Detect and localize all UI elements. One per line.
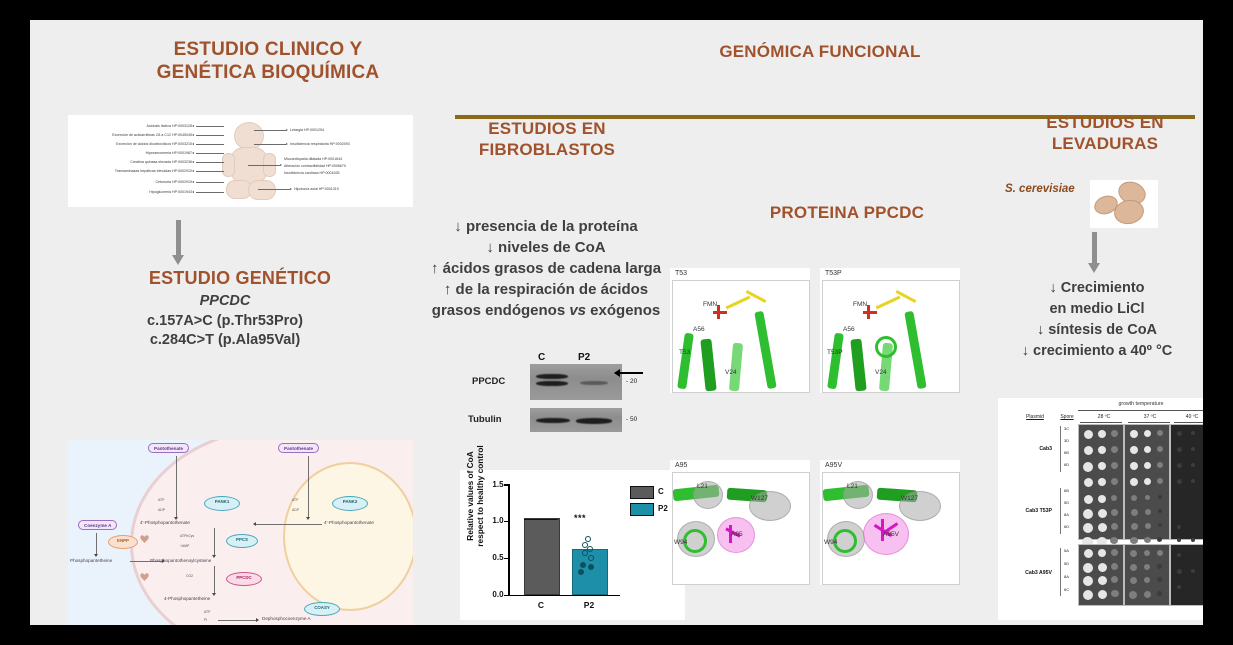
arrowhead-coa-to-pp bbox=[94, 554, 98, 557]
arrowhead-pantothenate-right bbox=[306, 517, 310, 520]
arrowhead-r2 bbox=[286, 143, 288, 145]
plate-row-label-cab3: Cab3 bbox=[1012, 446, 1052, 452]
nucleus-outline bbox=[283, 462, 413, 611]
y-tick-0 bbox=[504, 595, 508, 596]
gel-block-28c-top bbox=[1078, 424, 1124, 540]
cofactor-ppi: Pi bbox=[204, 618, 207, 622]
arrowhead-r4 bbox=[290, 188, 292, 190]
yeast-line-3: ↓ síntesis de CoA bbox=[982, 320, 1203, 341]
fibro-line-5: grasos endógenos vs exógenos bbox=[396, 300, 696, 321]
yeast-line-1: ↓ Crecimiento bbox=[982, 278, 1203, 299]
leader-line-l6 bbox=[196, 171, 224, 172]
gel-block-37c-top bbox=[1124, 424, 1170, 540]
arrowhead-l3 bbox=[192, 143, 194, 145]
variant-1: c.157A>C (p.Thr53Pro) bbox=[90, 312, 360, 331]
finding-right-6: Hipotonía axial HP:0001319 bbox=[294, 187, 339, 191]
yeast-cells-illustration bbox=[1090, 180, 1158, 228]
infant-arm-left bbox=[222, 153, 235, 177]
arrow-pantothenate-in-left bbox=[176, 456, 177, 518]
finding-left-3: Excreción de ácidos dicarboxílicos HP:00… bbox=[70, 142, 192, 146]
band-ppcdc-c-upper bbox=[536, 374, 568, 379]
title-fibro-line2: FIBROBLASTOS bbox=[422, 139, 672, 160]
metabolite-coenzyme-a-left: Coenzyme A bbox=[78, 520, 117, 530]
finding-right-3: Miocardiopatía dilatada HP:0001644 bbox=[284, 157, 342, 161]
gel-block-28c-bottom bbox=[1078, 544, 1124, 606]
y-tick-label-3: 1.5 bbox=[480, 480, 504, 489]
section-title-genetico: ESTUDIO GENÉTICO bbox=[115, 268, 365, 289]
title-levaduras-line2: LEVADURAS bbox=[990, 133, 1203, 154]
metabolite-4p-pantothenate-left: 4'-Phosphopantothenate bbox=[140, 520, 190, 526]
structure-caption-t53: T53 bbox=[675, 270, 687, 277]
ribbon-b bbox=[700, 339, 716, 392]
residue-label-t53: T53 bbox=[679, 349, 690, 356]
finding-left-4: Hiperamonemia HP:0001987 bbox=[70, 151, 192, 155]
residue-label-l21: L21 bbox=[697, 483, 708, 490]
blot-pointer-arrow-icon bbox=[615, 372, 643, 374]
fibro-line-3: ↑ ácidos grasos de cadena larga bbox=[396, 258, 696, 279]
leader-line-r3 bbox=[248, 165, 280, 166]
y-tick-label-2: 1.0 bbox=[480, 516, 504, 525]
structure-image-t53: FMN A56 T53 V24 bbox=[672, 280, 810, 393]
blot-lane-label-c: C bbox=[538, 352, 545, 363]
residue-label-t53p: T53P bbox=[827, 349, 843, 356]
finding-left-5: Creatina quinasa elevada HP:0003236 bbox=[70, 160, 192, 164]
residue-label-a95: A95 bbox=[731, 531, 743, 538]
error-bar-c bbox=[524, 519, 558, 520]
fmn-stick-1 bbox=[876, 296, 901, 310]
y-tick-label-0: 0.0 bbox=[480, 590, 504, 599]
residue-label-a95v: A95V bbox=[883, 531, 899, 538]
plate-brace-1 bbox=[1060, 426, 1061, 472]
plate-temp-37: 37 ºC bbox=[1128, 414, 1172, 420]
enzyme-pank1: PANK1 bbox=[204, 496, 240, 511]
arrowhead-l2 bbox=[192, 134, 194, 136]
poster-inner-panel: ESTUDIO CLINICO Y GENÉTICA BIOQUÍMICA GE… bbox=[30, 20, 1203, 625]
finding-left-7: Cetonuria HP:0002919 bbox=[70, 180, 192, 184]
section-title-fibroblastos: ESTUDIOS EN FIBROBLASTOS bbox=[422, 118, 672, 160]
chart-y-axis bbox=[508, 484, 510, 596]
y-tick-3 bbox=[504, 484, 508, 485]
plate-brace-3 bbox=[1060, 548, 1061, 596]
poster-root: ESTUDIO CLINICO Y GENÉTICA BIOQUÍMICA GE… bbox=[0, 0, 1233, 645]
yeast-findings: ↓ Crecimiento en medio LiCl ↓ síntesis d… bbox=[982, 278, 1203, 362]
arrow-yeast-to-findings bbox=[1092, 232, 1097, 264]
residue-label-a56: A56 bbox=[843, 326, 855, 333]
fibro-line-5-italic: vs bbox=[569, 302, 586, 319]
gel-block-40c-bottom bbox=[1170, 544, 1203, 606]
spore-3-3: 8A bbox=[1064, 574, 1069, 579]
gene-name: PPCDC bbox=[125, 292, 325, 311]
cofactor-amp: +AMP bbox=[180, 544, 189, 548]
structure-panel-t53: T53 FMN A56 T53 V24 bbox=[670, 268, 810, 393]
band-tubulin-p2 bbox=[576, 418, 612, 424]
residue-label-w127: W127 bbox=[901, 495, 918, 502]
fmn-phosphate-2 bbox=[867, 305, 870, 319]
plate-rule-37 bbox=[1128, 422, 1170, 423]
section-title-levaduras: ESTUDIOS EN LEVADURAS bbox=[990, 112, 1203, 154]
bar-c bbox=[524, 518, 560, 595]
leader-line-l3 bbox=[196, 144, 224, 145]
arrowhead-cytosol-to-mito bbox=[253, 522, 256, 526]
ribbon-d bbox=[754, 311, 776, 389]
plate-temp-40: 40 ºC bbox=[1172, 414, 1203, 420]
legend-swatch-p2 bbox=[630, 503, 654, 516]
arrow-to-dephospho-coa bbox=[218, 620, 258, 621]
plate-brace-2 bbox=[1060, 488, 1061, 534]
blot-gel-tubulin bbox=[530, 408, 622, 432]
band-tubulin-c bbox=[536, 418, 570, 423]
metabolite-pantothenate-left: Pantothenate bbox=[148, 443, 189, 453]
structure-panel-t53p: T53P FMN A56 T53P V24 bbox=[820, 268, 960, 393]
fmn-stick-1 bbox=[726, 296, 751, 310]
leader-line-r4 bbox=[258, 189, 290, 190]
plate-header-title: growth temperature bbox=[1076, 401, 1203, 407]
finding-left-2: Excreción de acilcarnitinas C8 a C12 HP:… bbox=[70, 133, 192, 137]
clinical-phenotype-figure: Acidosis láctica HP:0003128 Excreción de… bbox=[68, 115, 413, 207]
band-ppcdc-c-lower bbox=[536, 381, 568, 386]
plate-row-label-cab3-a95v: Cab3 A95V bbox=[1004, 570, 1052, 576]
metabolite-dephosphocoenzyme-a: Dephosphocoenzyme A bbox=[262, 616, 311, 622]
finding-left-1: Acidosis láctica HP:0003128 bbox=[70, 124, 192, 128]
arrow-to-4pp bbox=[214, 566, 215, 594]
title-clinico-line2: GENÉTICA BIOQUÍMICA bbox=[108, 61, 428, 84]
finding-left-6: Transaminasas hepáticas elevadas HP:0002… bbox=[70, 169, 192, 173]
enzyme-enpp: ENPP bbox=[108, 535, 138, 549]
significance-marker: *** bbox=[574, 513, 586, 523]
blot-lane-label-p2: P2 bbox=[578, 352, 590, 363]
enzyme-coasy: COASY bbox=[304, 602, 340, 616]
legend-label-c: C bbox=[658, 487, 664, 496]
arrowhead-l5 bbox=[192, 161, 194, 163]
ribbon-a bbox=[827, 333, 844, 390]
leader-line-l2 bbox=[196, 135, 224, 136]
structure-panel-a95: A95 L21 W127 A95 W94 bbox=[670, 460, 810, 585]
leader-line-r1 bbox=[254, 130, 286, 131]
chart-x-axis bbox=[508, 595, 620, 596]
spore-2-1: 6B bbox=[1064, 488, 1069, 493]
metabolite-4p-pantothenate-right: 4'-Phosphopantothenate bbox=[324, 520, 374, 526]
yeast-line-4: ↓ crecimiento a 40º °C bbox=[982, 341, 1203, 362]
spore-3-2: 5D bbox=[1064, 561, 1069, 566]
y-tick-2 bbox=[504, 521, 508, 522]
gel-block-40c-top bbox=[1170, 424, 1203, 540]
fibro-line-5-post: exógenos bbox=[586, 302, 660, 319]
finding-right-2: Insuficiencia respiratoria HP:0002093 bbox=[290, 142, 350, 146]
x-tick-label-c: C bbox=[519, 600, 563, 610]
fibro-line-4: ↑ de la respiración de ácidos bbox=[396, 279, 696, 300]
cofactor-atp-cys: ATPhCys bbox=[180, 534, 194, 538]
residue-label-fmn: FMN bbox=[853, 301, 867, 308]
spore-1-1: 3C bbox=[1064, 426, 1069, 431]
species-name-s-cerevisiae: S. cerevisiae bbox=[1005, 183, 1075, 195]
ribbon-a bbox=[677, 333, 694, 390]
spore-3-1: 5A bbox=[1064, 548, 1069, 553]
blot-mw-ppcdc: - 20 bbox=[626, 378, 637, 385]
arrowhead-l4 bbox=[192, 152, 194, 154]
arrowhead-r1 bbox=[286, 129, 288, 131]
plate-col-plasmid: Plasmid bbox=[1020, 414, 1050, 420]
structure-caption-a95: A95 bbox=[675, 462, 687, 469]
spore-1-4: 6D bbox=[1064, 462, 1069, 467]
plate-header-rule bbox=[1078, 410, 1203, 411]
enzyme-pank2: PANK2 bbox=[332, 496, 368, 511]
section-title-genomica: GENÓMICA FUNCIONAL bbox=[590, 42, 1050, 62]
blot-row-label-ppcdc: PPCDC bbox=[472, 376, 505, 387]
leader-line-l1 bbox=[196, 126, 224, 127]
finding-right-4: Alteración contractibilidad HP:0006670 bbox=[284, 164, 346, 168]
residue-label-a56: A56 bbox=[693, 326, 705, 333]
y-tick-1 bbox=[504, 558, 508, 559]
coa-biosynthesis-pathway-figure: Pantothenate Pantothenate 4'-Phosphopant… bbox=[68, 440, 413, 625]
infant-illustration bbox=[218, 120, 280, 204]
residue-label-w127: W127 bbox=[751, 495, 768, 502]
leader-line-l7 bbox=[196, 182, 224, 183]
structure-image-t53p: FMN A56 T53P V24 bbox=[822, 280, 960, 393]
cofactor-adp-2: ADP bbox=[292, 508, 299, 512]
cofactor-atp-1: ATP bbox=[158, 498, 164, 502]
metabolite-phosphopantetheine: Phosphopantetheine bbox=[70, 558, 112, 564]
blot-gel-ppcdc bbox=[530, 364, 622, 400]
arrowhead-l8 bbox=[192, 191, 194, 193]
band-ppcdc-p2 bbox=[580, 381, 608, 385]
title-levaduras-line1: ESTUDIOS EN bbox=[990, 112, 1203, 133]
coa-bar-chart: Relative values of CoArespect to healthy… bbox=[460, 470, 685, 620]
title-fibro-line1: ESTUDIOS EN bbox=[422, 118, 672, 139]
residue-label-v24: V24 bbox=[875, 369, 887, 376]
leader-line-l4 bbox=[196, 153, 224, 154]
fibro-line-2: ↓ niveles de CoA bbox=[396, 237, 696, 258]
y-tick-label-1: 0.5 bbox=[480, 553, 504, 562]
plate-row-label-cab3-t53p: Cab3 T53P bbox=[1004, 508, 1052, 514]
ribbon-d bbox=[904, 311, 926, 389]
yeast-line-2: en medio LiCl bbox=[982, 299, 1203, 320]
spore-3-4: 6C bbox=[1064, 587, 1069, 592]
legend-swatch-c bbox=[630, 486, 654, 499]
spore-1-3: 6B bbox=[1064, 450, 1069, 455]
x-tick-label-p2: P2 bbox=[567, 600, 611, 610]
arrowhead-l1 bbox=[192, 125, 194, 127]
ribbon-b bbox=[850, 339, 866, 392]
arrow-pp-into-cell bbox=[130, 561, 164, 562]
plate-rule-40 bbox=[1174, 422, 1203, 423]
arrow-pantothenate-in-right bbox=[308, 456, 309, 518]
arrowhead-to-4pp bbox=[212, 593, 216, 596]
plate-col-spore: Spore bbox=[1056, 414, 1078, 420]
yeast-growth-assay-figure: growth temperature Plasmid Spore 28 ºC 3… bbox=[998, 398, 1203, 620]
spore-2-4: 6D bbox=[1064, 524, 1069, 529]
cofactor-atp-2: ATP bbox=[292, 498, 298, 502]
enzyme-ppcs: PPCS bbox=[226, 534, 258, 548]
infant-head bbox=[234, 122, 264, 150]
section-title-clinico: ESTUDIO CLINICO Y GENÉTICA BIOQUÍMICA bbox=[108, 38, 428, 84]
leader-line-l5 bbox=[196, 162, 224, 163]
arrow-clinical-to-genetic bbox=[176, 220, 181, 256]
western-blot-figure: C P2 PPCDC Tubulin - 20 - 50 bbox=[450, 352, 690, 440]
residue-label-l21: L21 bbox=[847, 483, 858, 490]
plate-temp-28: 28 ºC bbox=[1082, 414, 1126, 420]
plate-rule-28 bbox=[1080, 422, 1122, 423]
finding-right-1: Letargia HP:0001254 bbox=[290, 128, 324, 132]
arrowhead-to-ppc bbox=[212, 555, 216, 558]
arrow-cytosol-to-mito bbox=[256, 524, 322, 525]
arrow-to-ppc bbox=[214, 528, 215, 556]
cofactor-adp-1: ADP bbox=[158, 508, 165, 512]
metabolite-pantothenate-right: Pantothenate bbox=[278, 443, 319, 453]
finding-left-8: Hipoglucemia HP:0001943 bbox=[70, 190, 192, 194]
spore-2-2: 5D bbox=[1064, 500, 1069, 505]
fibroblast-findings: ↓ presencia de la proteína ↓ niveles de … bbox=[396, 216, 696, 321]
section-title-proteina: PROTEINA PPCDC bbox=[712, 202, 982, 223]
chart-y-axis-label: Relative values of CoArespect to healthy… bbox=[465, 437, 485, 555]
structure-image-a95: L21 W127 A95 W94 bbox=[672, 472, 810, 585]
arrowhead-pp-into-cell bbox=[162, 559, 165, 563]
arrowhead-to-dephospho-coa bbox=[256, 618, 259, 622]
leader-line-r2 bbox=[254, 144, 286, 145]
residue-label-w94: W94 bbox=[824, 539, 837, 546]
residue-label-v24: V24 bbox=[725, 369, 737, 376]
arrow-coa-to-pp bbox=[96, 533, 97, 555]
fmn-phosphate bbox=[713, 311, 727, 314]
structure-caption-t53p: T53P bbox=[825, 270, 842, 277]
spore-2-3: 8A bbox=[1064, 512, 1069, 517]
chart-plot-area: 0.0 0.5 1.0 1.5 *** C P2 bbox=[508, 484, 620, 596]
fmn-phosphate bbox=[863, 311, 877, 314]
title-clinico-line1: ESTUDIO CLINICO Y bbox=[108, 38, 428, 61]
cofactor-co2: CO2 bbox=[186, 574, 193, 578]
fmn-phosphate-2 bbox=[717, 305, 720, 319]
structure-caption-a95v: A95V bbox=[825, 462, 842, 469]
blot-mw-tubulin: - 50 bbox=[626, 416, 637, 423]
metabolite-4-phosphopantetheine: 4-Phosphopantetheine bbox=[164, 596, 210, 602]
arrowhead-l6 bbox=[192, 170, 194, 172]
fibro-line-1: ↓ presencia de la proteína bbox=[396, 216, 696, 237]
legend-label-p2: P2 bbox=[658, 504, 668, 513]
fibro-line-5-pre: grasos endógenos bbox=[432, 302, 570, 319]
residue-label-w94: W94 bbox=[674, 539, 687, 546]
proline-ring bbox=[875, 336, 897, 358]
structure-panel-a95v: A95V L21 W127 A95V W94 bbox=[820, 460, 960, 585]
infant-leg-right bbox=[248, 180, 276, 200]
leader-line-l8 bbox=[196, 192, 224, 193]
spore-1-2: 3D bbox=[1064, 438, 1069, 443]
variant-2: c.284C>T (p.Ala95Val) bbox=[90, 331, 360, 350]
enzyme-ppcdc: PPCDC bbox=[226, 572, 262, 586]
finding-right-5: Insuficiencia cardíaca HP:0001635 bbox=[284, 171, 340, 175]
residue-label-fmn: FMN bbox=[703, 301, 717, 308]
blot-row-label-tubulin: Tubulin bbox=[468, 414, 502, 425]
gel-block-37c-bottom bbox=[1124, 544, 1170, 606]
arrowhead-r3 bbox=[280, 164, 282, 166]
arrowhead-l7 bbox=[192, 181, 194, 183]
structure-image-a95v: L21 W127 A95V W94 bbox=[822, 472, 960, 585]
ribbon-c bbox=[729, 343, 743, 392]
cofactor-atp-3: ATP bbox=[204, 610, 210, 614]
